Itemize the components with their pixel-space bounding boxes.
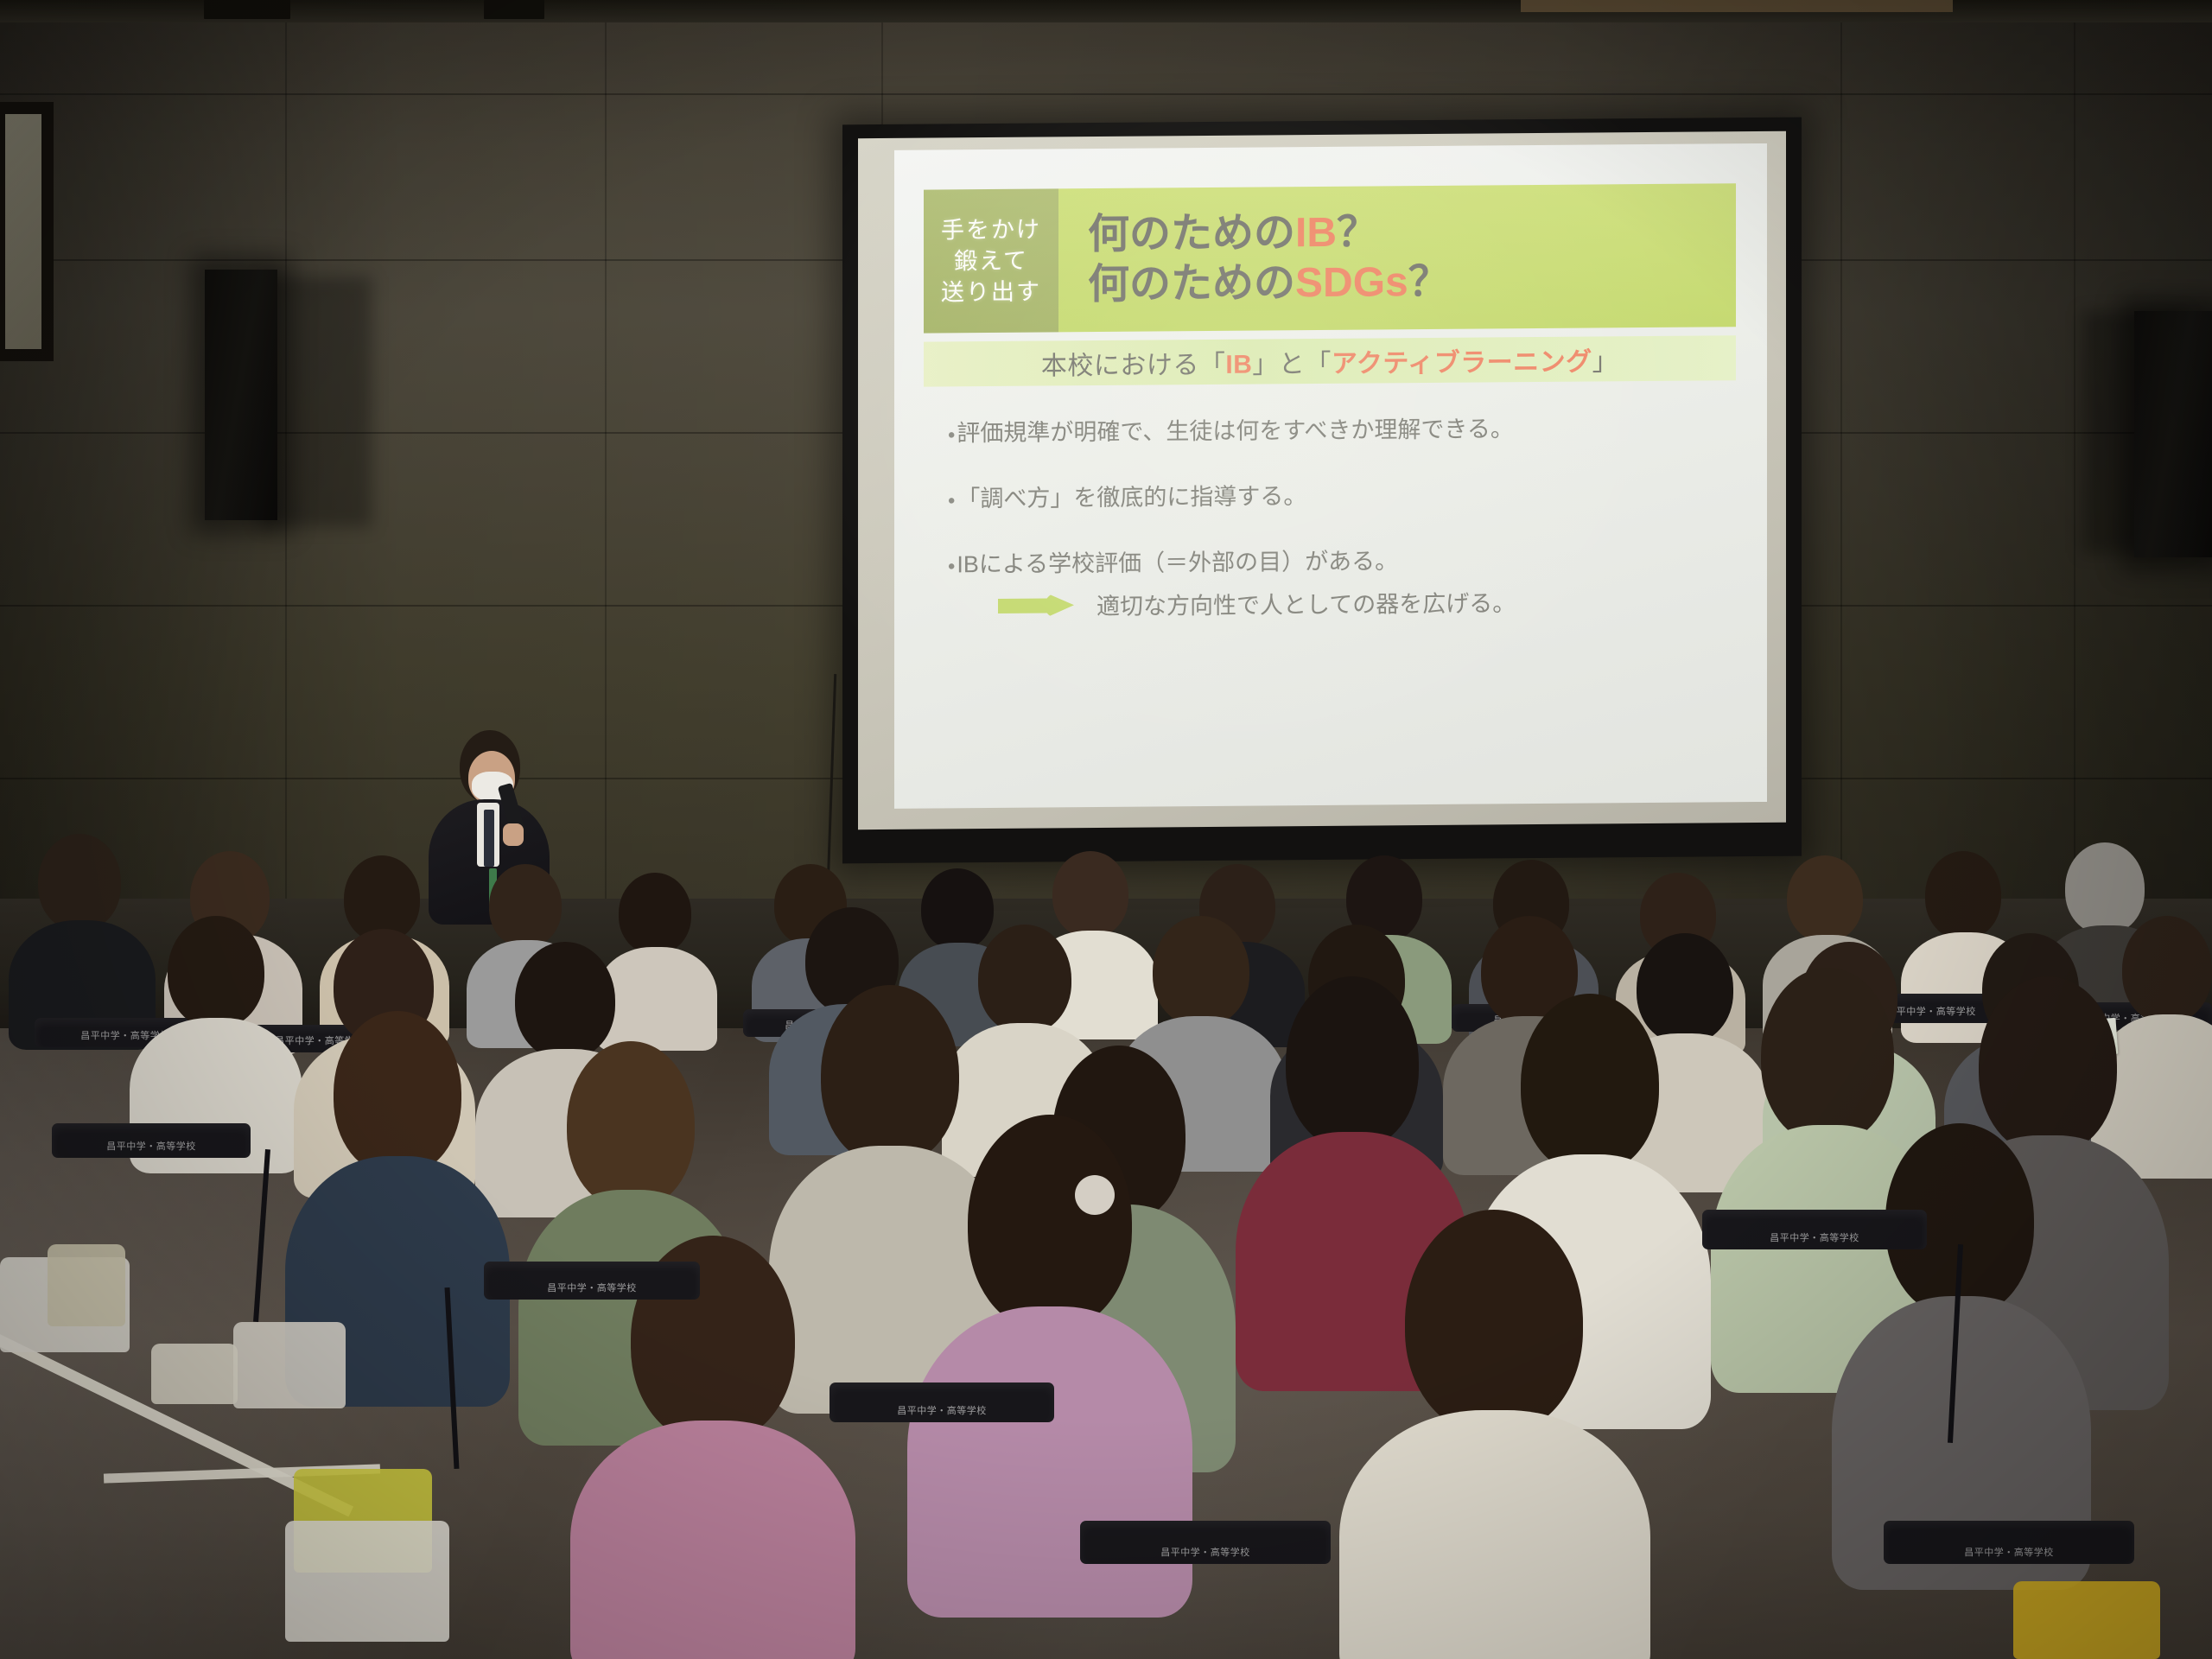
- slide-subtitle: 本校における「IB」と「アクティブラーニング」: [1041, 340, 1618, 382]
- stacking-chair[interactable]: 昌平中学・高等学校: [1884, 1521, 2134, 1564]
- wall-seam: [2074, 0, 2075, 916]
- audience-member: [130, 916, 302, 1158]
- slide-motto-block: 手をかけ 鍛えて 送り出す: [924, 188, 1058, 333]
- chair-school-label: 昌平中学・高等学校: [52, 1139, 251, 1153]
- stacking-chair[interactable]: 昌平中学・高等学校: [484, 1262, 700, 1300]
- title1-prefix: 何のための: [1088, 210, 1295, 257]
- subtitle-highlight-1: IB: [1225, 351, 1252, 379]
- chair-school-label: 昌平中学・高等学校: [484, 1281, 700, 1294]
- chair-school-label: 昌平中学・高等学校: [829, 1403, 1054, 1417]
- slide-bullet-item: • 評価規準が明確で、生徒は何をすべきか理解できる。: [948, 413, 1734, 448]
- bullet-text: IBによる学校評価（＝外部の目）がある。: [957, 547, 1398, 580]
- wall-seam: [1840, 0, 1842, 916]
- bullet-marker-icon: •: [948, 425, 955, 446]
- slide-conclusion-row: 適切な方向性で人としての器を広げる。: [998, 584, 1516, 622]
- bullet-marker-icon: •: [948, 556, 955, 577]
- subtitle-highlight-2: アクティブラーニング: [1332, 348, 1592, 378]
- ceiling-vent: [204, 0, 290, 19]
- subtitle-part3: 」: [1592, 347, 1619, 376]
- wall-seam: [0, 93, 2212, 95]
- projection-screen-surface: 手をかけ 鍛えて 送り出す 何のためのIB？ 何のためのSDGs？: [858, 131, 1786, 829]
- photo-scene: 手をかけ 鍛えて 送り出す 何のためのIB？ 何のためのSDGs？: [0, 0, 2212, 1659]
- audience-member: [1339, 1210, 1650, 1659]
- slide-bullet-item: • IBによる学校評価（＝外部の目）がある。: [948, 544, 1734, 580]
- title2-suffix: ？: [1408, 259, 1450, 305]
- presenter-necktie: [484, 810, 494, 867]
- wall-frame-panel: [0, 102, 54, 361]
- slide-title-line-1: 何のためのIB？: [1088, 208, 1736, 257]
- stacking-chair[interactable]: 昌平中学・高等学校: [1080, 1521, 1331, 1564]
- audience-member: [1832, 1123, 2091, 1573]
- chair-school-label: 昌平中学・高等学校: [1884, 1545, 2134, 1559]
- shopping-bag[interactable]: [2013, 1581, 2160, 1659]
- presenter-hand: [503, 823, 524, 846]
- subtitle-part2: 」と「: [1252, 350, 1332, 379]
- motto-line-1: 手をかけ: [941, 218, 1041, 242]
- plastic-bag[interactable]: [151, 1344, 238, 1404]
- projection-screen-frame: 手をかけ 鍛えて 送り出す 何のためのIB？ 何のためのSDGs？: [842, 118, 1802, 864]
- slide-conclusion-text: 適切な方向性で人としての器を広げる。: [1096, 584, 1516, 621]
- title1-suffix: ？: [1337, 209, 1378, 255]
- plastic-bag[interactable]: [285, 1521, 449, 1642]
- motto-line-3: 送り出す: [941, 280, 1041, 304]
- slide-bullet-item: • 「調べ方」を徹底的に指導する。: [948, 479, 1734, 514]
- title2-prefix: 何のための: [1088, 260, 1295, 308]
- tote-bag[interactable]: [48, 1244, 125, 1326]
- slide-title-block: 何のためのIB？ 何のためのSDGs？: [1058, 183, 1736, 332]
- title2-highlight: SDGs: [1295, 259, 1408, 306]
- wall-speaker-right: [2134, 311, 2212, 557]
- bullet-text: 「調べ方」を徹底的に指導する。: [957, 482, 1306, 514]
- hair-tie: [1075, 1175, 1115, 1215]
- motto-line-2: 鍛えて: [954, 249, 1028, 273]
- presentation-slide: 手をかけ 鍛えて 送り出す 何のためのIB？ 何のためのSDGs？: [894, 143, 1767, 809]
- bullet-marker-icon: •: [948, 491, 955, 512]
- wall-speaker-left: [205, 270, 277, 520]
- slide-subtitle-band: 本校における「IB」と「アクティブラーニング」: [924, 335, 1736, 386]
- subtitle-part1: 本校における「: [1041, 351, 1226, 381]
- chair-school-label: 昌平中学・高等学校: [1080, 1545, 1331, 1559]
- slide-title-line-2: 何のためのSDGs？: [1088, 258, 1736, 307]
- stacking-chair[interactable]: 昌平中学・高等学校: [829, 1382, 1054, 1422]
- ceiling-vent: [484, 0, 544, 19]
- title1-highlight: IB: [1295, 209, 1337, 255]
- plastic-bag[interactable]: [233, 1322, 346, 1408]
- right-arrow-icon: [998, 592, 1074, 619]
- wall-seam: [605, 0, 607, 916]
- ceiling-strip: [1521, 0, 1953, 12]
- stacking-chair[interactable]: 昌平中学・高等学校: [1702, 1210, 1927, 1249]
- stacking-chair[interactable]: 昌平中学・高等学校: [52, 1123, 251, 1158]
- slide-title-band: 手をかけ 鍛えて 送り出す 何のためのIB？ 何のためのSDGs？: [924, 183, 1736, 333]
- bullet-text: 評価規準が明確で、生徒は何をすべきか理解できる。: [957, 415, 1514, 448]
- chair-school-label: 昌平中学・高等学校: [1702, 1230, 1927, 1244]
